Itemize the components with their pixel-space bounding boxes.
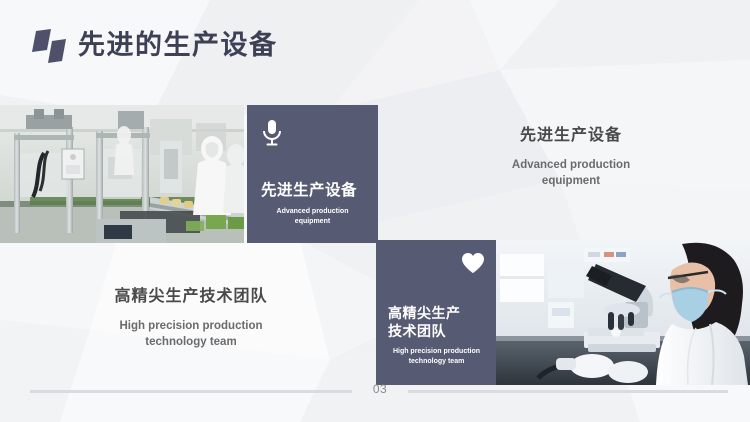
text-block-title-cn: 先进生产设备: [440, 125, 702, 147]
microscope-lab-photo: [496, 240, 750, 385]
card-title-cn: 先进生产设备: [261, 181, 364, 200]
text-block-team: 高精尖生产技术团队 High precision production tech…: [58, 286, 324, 350]
card-text-group: 高精尖生产 技术团队 High precision production tec…: [376, 304, 497, 367]
heart-icon: [461, 252, 485, 279]
text-block-title-en-line2: technology team: [145, 336, 236, 348]
card-title-en: Advanced production equipment: [261, 207, 364, 227]
card-title-cn-line1: 高精尖生产: [388, 305, 461, 321]
double-parallelogram-logo-icon: [30, 25, 72, 67]
card-title-cn-line2: 技术团队: [388, 323, 446, 339]
card-title-cn: 高精尖生产 技术团队: [388, 304, 485, 340]
presentation-slide: 先进的生产设备: [0, 0, 750, 422]
card-text-group: 先进生产设备 Advanced production equipment: [247, 181, 378, 227]
text-block-title-cn: 高精尖生产技术团队: [58, 286, 324, 308]
slide-header: 先进的生产设备: [0, 0, 750, 96]
text-block-title-en: Advanced production equipment: [440, 157, 702, 189]
text-block-advanced-equipment: 先进生产设备 Advanced production equipment: [440, 125, 702, 189]
card-title-en: High precision production technology tea…: [388, 347, 485, 367]
footer-rule-right: [408, 390, 728, 393]
page-title: 先进的生产设备: [78, 25, 278, 65]
footer-rule-left: [30, 390, 352, 393]
text-block-title-en: High precision production technology tea…: [58, 318, 324, 350]
production-line-photo: [0, 105, 244, 243]
microphone-icon: [261, 119, 283, 152]
card-advanced-equipment[interactable]: 先进生产设备 Advanced production equipment: [247, 105, 378, 243]
card-precision-team[interactable]: 高精尖生产 技术团队 High precision production tec…: [376, 240, 497, 385]
text-block-title-en-line1: High precision production: [119, 320, 262, 332]
page-number: 03: [360, 382, 400, 396]
text-block-title-en-line1: Advanced production: [512, 159, 630, 171]
text-block-title-en-line2: equipment: [542, 175, 600, 187]
